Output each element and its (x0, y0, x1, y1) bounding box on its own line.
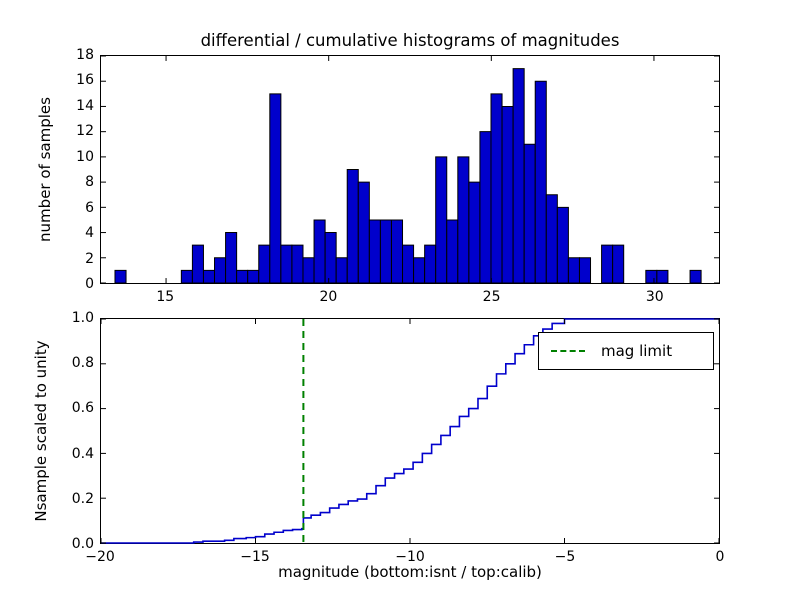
top-ytick-label: 6 (58, 200, 94, 216)
figure-title: differential / cumulative histograms of … (100, 31, 720, 50)
histogram-bar (303, 258, 314, 283)
histogram-bar (380, 220, 391, 283)
histogram-bar (524, 144, 535, 283)
histogram-bar (436, 157, 447, 283)
legend-label-mag-limit: mag limit (601, 342, 672, 360)
bottom-ytick-label: 0.4 (50, 446, 94, 462)
histogram-bar (215, 258, 226, 283)
top-ytick-label: 12 (58, 123, 94, 139)
histogram-bar (414, 258, 425, 283)
legend: mag limit (538, 332, 714, 370)
matplotlib-figure: differential / cumulative histograms of … (0, 0, 800, 600)
top-ytick-label: 4 (58, 225, 94, 241)
top-xtick-label: 30 (646, 289, 664, 305)
histogram-bar (557, 207, 568, 283)
top-plot-ylabel: number of samples (36, 55, 54, 284)
histogram-bar (546, 195, 557, 283)
histogram-bar (579, 258, 590, 283)
histogram-bar (469, 182, 480, 283)
bottom-ytick-label: 0.8 (50, 355, 94, 371)
histogram-bar (613, 245, 624, 283)
histogram-bar (281, 245, 292, 283)
histogram-bar (403, 245, 414, 283)
histogram-bar (248, 270, 259, 283)
histogram-bar (369, 220, 380, 283)
histogram-bar (425, 245, 436, 283)
bottom-plot-ylabel: Nsample scaled to unity (32, 318, 50, 544)
top-ytick-label: 18 (58, 47, 94, 63)
histogram-bar (270, 94, 281, 283)
histogram-bar (447, 220, 458, 283)
top-ytick-label: 16 (58, 72, 94, 88)
histogram-bar (657, 270, 668, 283)
histogram-bar (602, 245, 613, 283)
histogram-bar (203, 270, 214, 283)
histogram-bar (458, 157, 469, 283)
histogram-bar (502, 106, 513, 283)
histogram-bar (568, 258, 579, 283)
legend-dashed-line-icon (551, 350, 585, 352)
histogram-bar (480, 132, 491, 283)
top-ytick-label: 2 (58, 251, 94, 267)
top-ytick-label: 10 (58, 149, 94, 165)
bottom-ytick-label: 0.6 (50, 400, 94, 416)
top-ytick-label: 14 (58, 98, 94, 114)
histogram-bar (491, 94, 502, 283)
top-xtick-label: 20 (319, 289, 337, 305)
top-xtick-label: 15 (156, 289, 174, 305)
bottom-plot-xlabel: magnitude (bottom:isnt / top:calib) (100, 563, 720, 581)
histogram-bar (237, 270, 248, 283)
bottom-ytick-label: 0.0 (50, 536, 94, 552)
histogram-bar (314, 220, 325, 283)
histogram-bar (336, 258, 347, 283)
histogram-bar (325, 233, 336, 283)
histogram-bar (535, 81, 546, 283)
top-ytick-label: 0 (58, 276, 94, 292)
histogram-bar (192, 245, 203, 283)
histogram-bar (115, 270, 126, 283)
histogram-bar (347, 170, 358, 284)
histogram-bar (181, 270, 192, 283)
histogram-bar (690, 270, 701, 283)
histogram-bar (226, 233, 237, 283)
top-ytick-label: 8 (58, 174, 94, 190)
histogram-bar (292, 245, 303, 283)
bottom-ytick-label: 1.0 (50, 310, 94, 326)
top-xtick-label: 25 (483, 289, 501, 305)
histogram-bar (358, 182, 369, 283)
histogram-bar (646, 270, 657, 283)
histogram-canvas (101, 56, 719, 283)
histogram-bar (391, 220, 402, 283)
bottom-ytick-label: 0.2 (50, 491, 94, 507)
histogram-bar (513, 69, 524, 283)
histogram-bar (259, 245, 270, 283)
top-histogram-axes (100, 55, 720, 284)
